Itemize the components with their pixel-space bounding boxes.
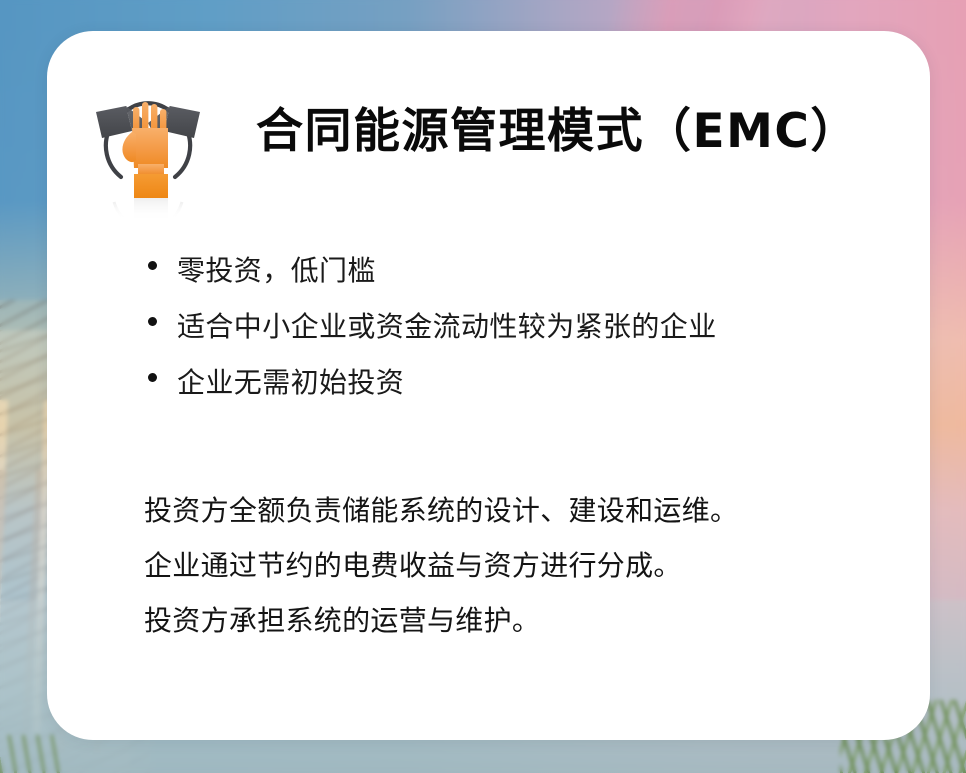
paragraph-line: 投资方全额负责储能系统的设计、建设和运维。	[144, 497, 890, 525]
card-header: 合同能源管理模式（EMC）	[88, 76, 900, 216]
paragraph-line: 企业通过节约的电费收益与资方进行分成。	[144, 552, 890, 580]
feature-bullet-list: 零投资，低门槛 适合中小企业或资金流动性较为紧张的企业 企业无需初始投资	[148, 253, 890, 421]
list-item-label: 适合中小企业或资金流动性较为紧张的企业	[177, 309, 717, 344]
list-item: 适合中小企业或资金流动性较为紧张的企业	[148, 309, 890, 344]
paragraph-line: 投资方承担系统的运营与维护。	[144, 607, 890, 635]
list-item: 企业无需初始投资	[148, 365, 890, 400]
description-paragraphs: 投资方全额负责储能系统的设计、建设和运维。 企业通过节约的电费收益与资方进行分成…	[144, 497, 890, 662]
list-item: 零投资，低门槛	[148, 253, 890, 288]
list-item-label: 零投资，低门槛	[177, 253, 376, 288]
list-item-label: 企业无需初始投资	[177, 365, 404, 400]
page-title: 合同能源管理模式（EMC）	[256, 104, 859, 160]
bullet-dot-icon	[148, 317, 157, 326]
bullet-dot-icon	[148, 261, 157, 270]
teamwork-hands-circle-icon	[88, 76, 208, 226]
bullet-dot-icon	[148, 373, 157, 382]
content-card: 合同能源管理模式（EMC） 零投资，低门槛 适合中小企业或资金流动性较为紧张的企…	[47, 31, 930, 740]
